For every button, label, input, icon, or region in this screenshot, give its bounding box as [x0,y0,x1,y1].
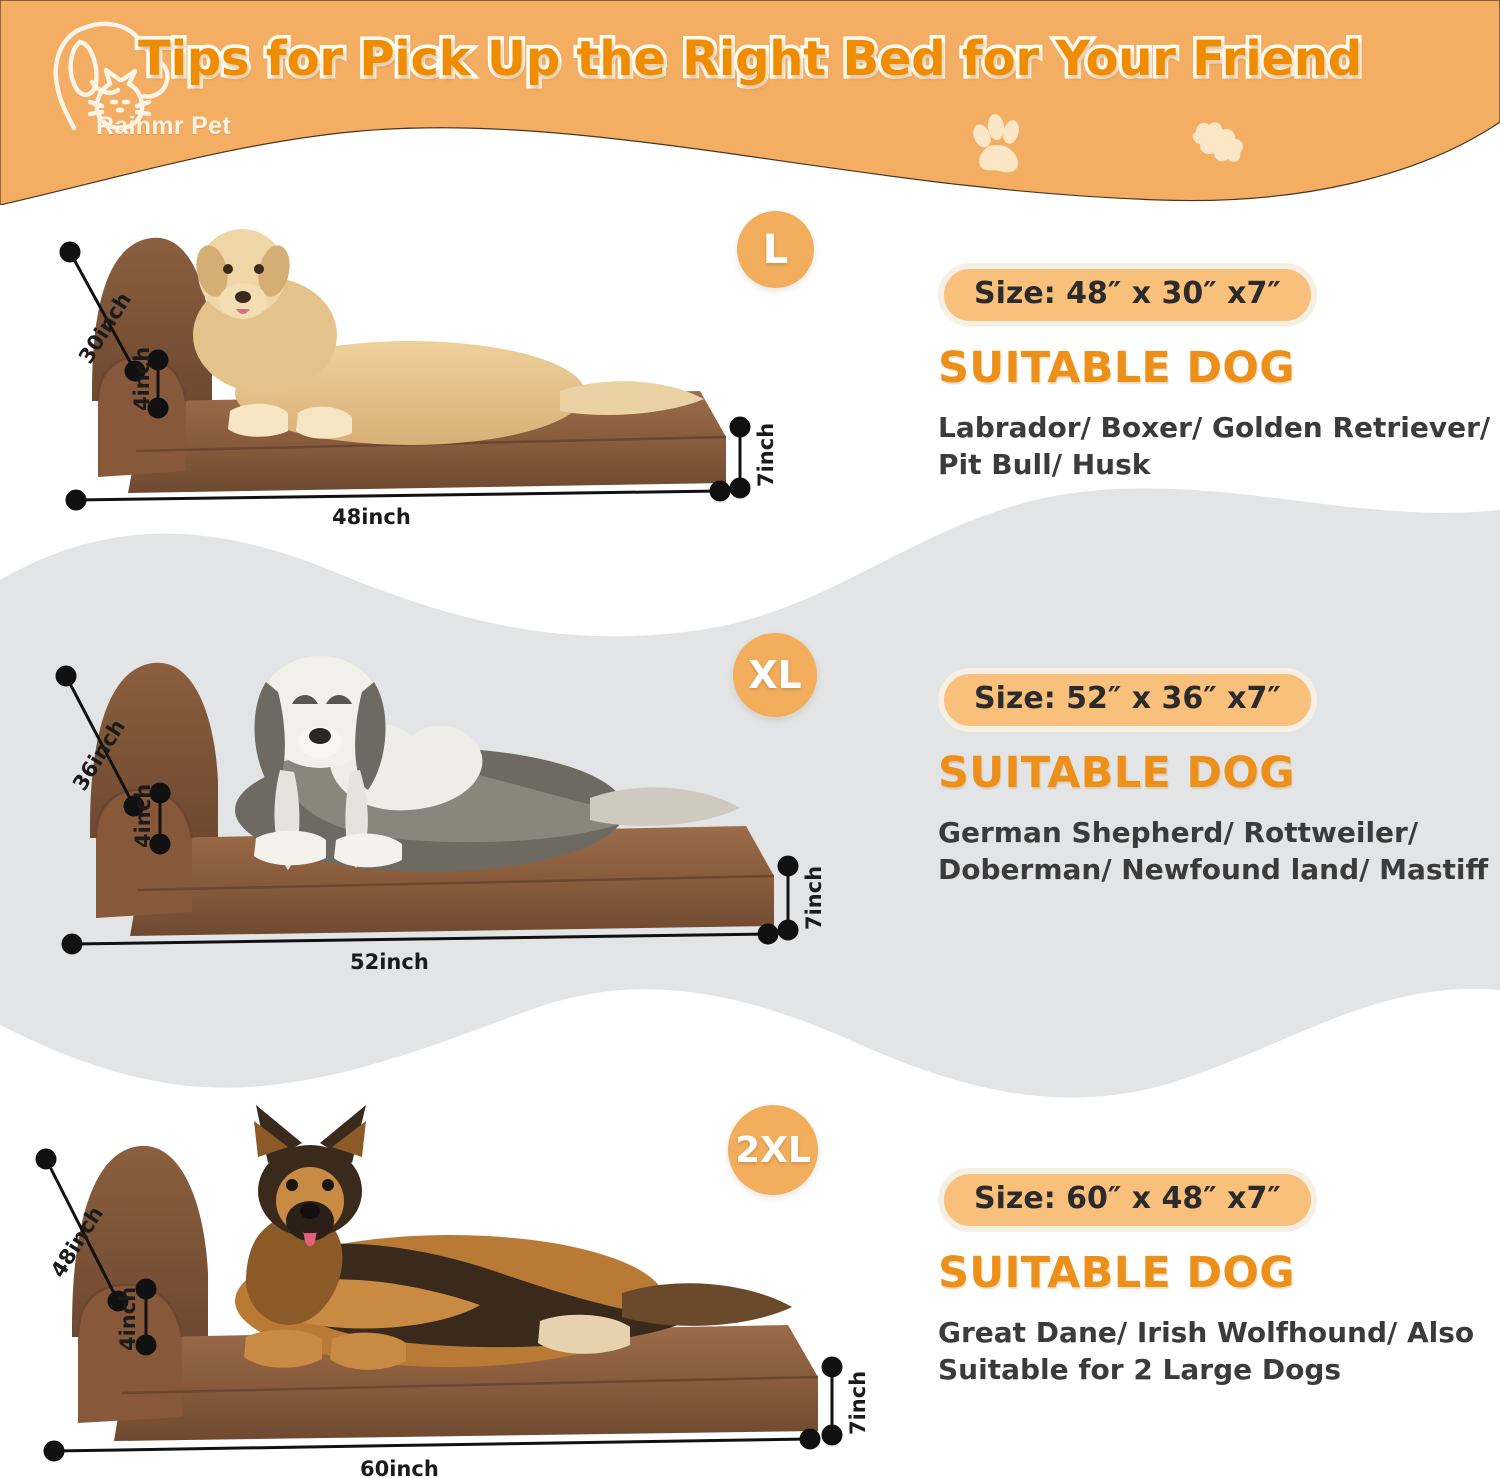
dimension-bolster-label: 4inch [131,784,155,848]
dimension-thickness-label: 7inch [802,866,826,930]
size-pill-text: Size: 52″ x 36″ x7″ [974,681,1281,716]
bed-illustration-xlarge: 36inch 4inch 52inch 7inch [30,630,830,975]
size-pill-2xl: Size: 60″ x 48″ x7″ [938,1168,1317,1232]
size-pill-l: Size: 48″ x 30″ x7″ [938,263,1317,327]
info-panel-2xlarge: Size: 60″ x 48″ x7″ SUITABLE DOG Great D… [938,1168,1498,1388]
infographic-page: Rainmr Pet Tips for Pick Up the Right Be… [0,0,1500,1478]
size-pill-text: Size: 60″ x 48″ x7″ [974,1181,1281,1216]
size-pill-text: Size: 48″ x 30″ x7″ [974,276,1281,311]
header-banner: Rainmr Pet Tips for Pick Up the Right Be… [0,0,1500,205]
bed-illustration-large: 30inch 4inch 48inch 7inch [40,215,780,535]
dimension-bolster-label: 4inch [116,1287,140,1351]
breed-list: Great Dane/ Irish Wolfhound/ Also Suitab… [938,1314,1498,1388]
dimension-length-label: 52inch [350,950,429,974]
brand-name: Rainmr Pet [96,112,231,141]
size-badge-l[interactable]: L [737,211,814,288]
page-title: Tips for Pick Up the Right Bed for Your … [0,31,1500,87]
dimension-length-label: 48inch [332,505,411,529]
info-panel-xlarge: Size: 52″ x 36″ x7″ SUITABLE DOG German … [938,668,1498,888]
paw-print-icon [967,114,1031,176]
dimension-length-label: 60inch [360,1457,439,1478]
size-badge-xl[interactable]: XL [733,633,817,717]
size-pill-xl: Size: 52″ x 36″ x7″ [938,668,1317,732]
suitable-dog-heading: SUITABLE DOG [938,343,1498,393]
suitable-dog-heading: SUITABLE DOG [938,1248,1498,1298]
suitable-dog-heading: SUITABLE DOG [938,748,1498,798]
info-panel-large: Size: 48″ x 30″ x7″ SUITABLE DOG Labrado… [938,263,1498,483]
bone-icon [1180,118,1252,164]
dimension-bolster-label: 4inch [130,347,154,411]
size-badge-2xl[interactable]: 2XL [728,1105,818,1195]
dimension-thickness-label: 7inch [846,1371,870,1435]
dimension-thickness-label: 7inch [754,423,778,487]
breed-list: German Shepherd/ Rottweiler/ Doberman/ N… [938,814,1498,888]
breed-list: Labrador/ Boxer/ Golden Retriever/ Pit B… [938,409,1498,483]
